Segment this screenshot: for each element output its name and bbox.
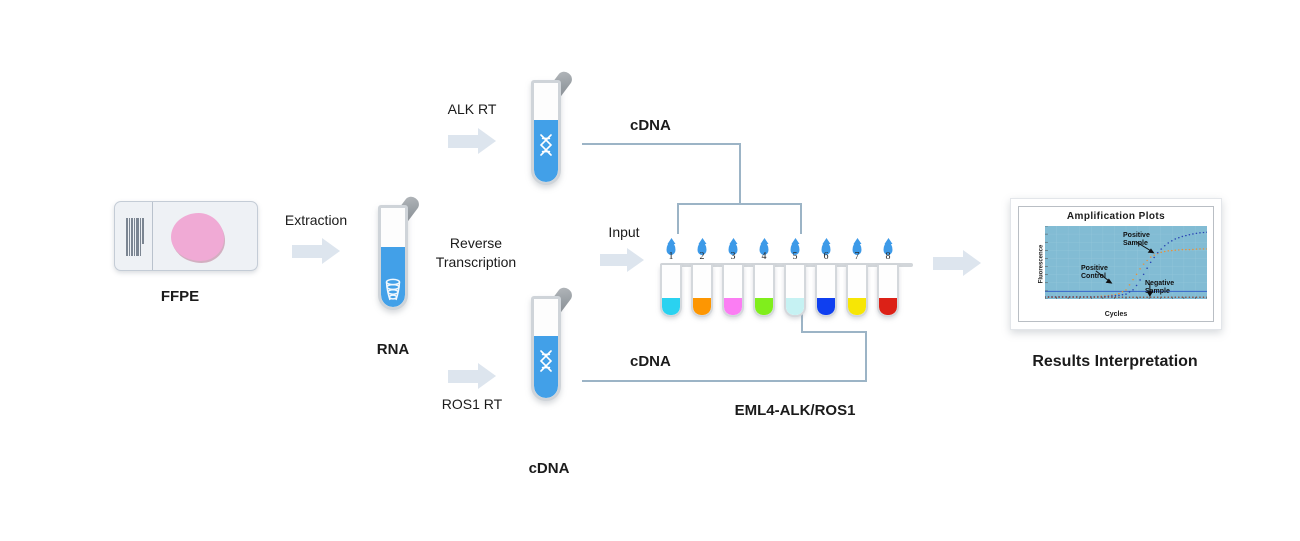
plot-title: Amplification Plots [1019, 211, 1213, 222]
cdna-top-connector-vertical [739, 143, 741, 203]
slide-divider [152, 202, 153, 270]
results-label: Results Interpretation [1032, 353, 1197, 371]
reverse-transcription-label: Reverse Transcription [436, 234, 516, 272]
alk-bracket-span [677, 203, 802, 205]
alk-rt-label: ALK RT [448, 101, 497, 117]
ros1-rt-label: ROS1 RT [442, 396, 502, 412]
well-number-5: 5 [793, 251, 798, 262]
tube-body [531, 80, 561, 185]
input-label: Input [608, 224, 639, 240]
cdna-top-connector-horizontal [582, 143, 741, 145]
alk-bracket-left-tick [677, 203, 679, 234]
ros1-bracket-span [801, 331, 867, 333]
pcr-well-5 [784, 265, 806, 317]
input-arrow-icon [600, 248, 644, 272]
pcr-well-1 [660, 265, 682, 317]
well-number-3: 3 [731, 251, 736, 262]
well-fill-3 [724, 298, 742, 315]
extraction-label: Extraction [285, 212, 347, 228]
well-fill-1 [662, 298, 680, 315]
plot-x-axis-label: Cycles [1019, 311, 1213, 318]
annotation-positive-sample: Positive Sample [1123, 232, 1150, 248]
results-card: Amplification Plots Fluorescence Cycles … [1010, 198, 1222, 330]
well-number-1: 1 [669, 251, 674, 262]
well-number-8: 8 [886, 251, 891, 262]
tube-body [531, 296, 561, 401]
rna-label: RNA [377, 341, 410, 358]
pcr-well-3 [722, 265, 744, 317]
well-fill-2 [693, 298, 711, 315]
dna-helix-icon [537, 350, 555, 372]
cdna-top-label: cDNA [630, 117, 671, 134]
cdna-bottom-connector-vertical [865, 331, 867, 382]
pcr-well-2 [691, 265, 713, 317]
pcr-well-4 [753, 265, 775, 317]
well-fill-8 [879, 298, 897, 315]
tube-body [378, 205, 408, 310]
amplification-plot: Amplification Plots Fluorescence Cycles … [1018, 206, 1214, 322]
extraction-arrow-icon [292, 238, 340, 264]
pcr-well-7 [846, 265, 868, 317]
alk-bracket-right-tick [800, 203, 802, 234]
tissue-section [171, 213, 224, 261]
annotation-negative-sample: Negative Sample [1145, 280, 1174, 296]
well-fill-7 [848, 298, 866, 315]
cdna-bottom-label: cDNA [630, 353, 671, 370]
ffpe-label: FFPE [161, 288, 199, 305]
plot-y-axis-label: Fluorescence [1038, 245, 1044, 284]
well-fill-4 [755, 298, 773, 315]
well-number-2: 2 [700, 251, 705, 262]
dna-helix-icon [537, 134, 555, 156]
assay-label: EML4-ALK/ROS1 [735, 402, 856, 419]
well-fill-5 [786, 298, 804, 315]
ffpe-slide [114, 201, 258, 271]
barcode-icon [126, 218, 144, 256]
well-number-7: 7 [855, 251, 860, 262]
workflow-diagram: FFPE Extraction RNA Reverse Transcriptio [0, 0, 1300, 541]
cdna-bottom-connector-horizontal [582, 380, 867, 382]
pcr-well-8 [877, 265, 899, 317]
alk-rt-arrow-icon [448, 128, 496, 154]
ros1-rt-arrow-icon [448, 363, 496, 389]
cdna-tube-label: cDNA [529, 460, 570, 477]
results-arrow-icon [933, 250, 981, 276]
annotation-positive-control: Positive Control [1081, 265, 1108, 281]
well-fill-6 [817, 298, 835, 315]
well-number-6: 6 [824, 251, 829, 262]
pcr-strip: 12345678 [660, 237, 920, 327]
pcr-well-6 [815, 265, 837, 317]
rna-helix-icon [383, 277, 403, 303]
well-number-4: 4 [762, 251, 767, 262]
